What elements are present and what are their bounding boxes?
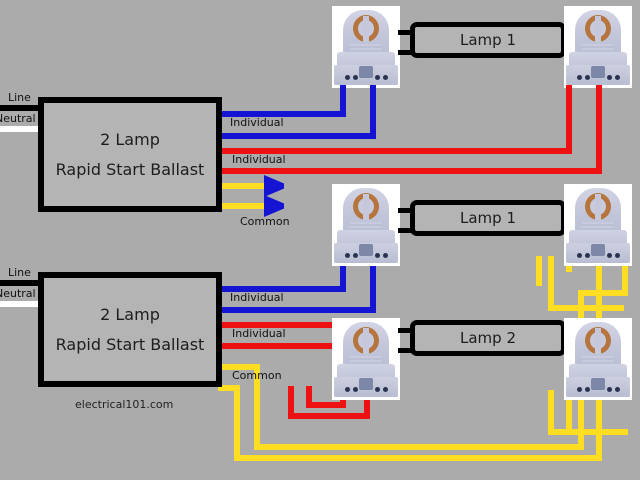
- ballast-2-blue-wire-b-riser: [370, 262, 376, 313]
- red-lead-top-right-a: [566, 85, 572, 103]
- ballast-2-red-wire-a-bottom: [306, 402, 346, 408]
- wire-nut-icon: [264, 175, 294, 217]
- watermark: electrical101.com: [75, 398, 173, 411]
- ballast-1-red-wire-b: [218, 168, 602, 174]
- ballast-2-blue-wire-a-riser: [340, 262, 346, 292]
- red-lead-top-right-b: [596, 85, 602, 103]
- ballast-2-blue-output-label: Individual: [230, 292, 284, 304]
- ballast-1-title-line2: Rapid Start Ballast: [56, 155, 205, 185]
- ballast-1-yellow-wire-b: [218, 203, 266, 209]
- ballast-2-blue-wire-b: [218, 307, 376, 313]
- lamp-top-pin-left-upper: [398, 30, 413, 35]
- neutral-label-ballast-1: Neutral: [0, 113, 36, 125]
- lamp-bottom-label: Lamp 2: [460, 329, 516, 347]
- holder-middle-left: [332, 184, 400, 266]
- lamp-bottom: Lamp 2: [410, 320, 566, 356]
- ballast-1-yellow-wire-a: [218, 183, 266, 189]
- ballast-2-red-wire-b-riser: [288, 386, 294, 419]
- ballast-2-title-line1: 2 Lamp: [100, 300, 160, 330]
- lamp-top-label: Lamp 1: [460, 31, 516, 49]
- blue-lead-top-left-b: [370, 85, 376, 103]
- neutral-label-ballast-2: Neutral: [0, 288, 36, 300]
- ballast-2-title-line2: Rapid Start Ballast: [56, 330, 205, 360]
- lamp-middle-label: Lamp 1: [460, 209, 516, 227]
- holder-bottom-right: [564, 318, 632, 400]
- ballast-2-common-label: Common: [232, 370, 282, 382]
- ballast-2-red-wire-a-riser: [306, 386, 312, 408]
- lamp-middle-pin-left-lower: [398, 228, 413, 233]
- ballast-2-yellow-wire-a-bottom: [254, 444, 584, 450]
- lamp-bottom-pin-left-upper: [398, 328, 413, 333]
- yellow-jumper-mid-top: [548, 305, 624, 311]
- lamp-top-pin-left-lower: [398, 50, 413, 55]
- holder-top-left: [332, 6, 400, 88]
- ballast-2-red-wire-b-bottom: [288, 413, 370, 419]
- holder-middle-right: [564, 184, 632, 266]
- yellow-middle-right-drop-a: [536, 256, 542, 286]
- wiring-diagram-canvas: Line Neutral Line Neutral Individual Ind…: [0, 0, 640, 480]
- blue-lead-top-left-a: [340, 85, 346, 103]
- ballast-2-yellow-wire-b-bottom: [234, 455, 602, 461]
- ballast-1: 2 Lamp Rapid Start Ballast: [38, 97, 222, 212]
- ballast-2-red-output-label: Individual: [232, 328, 286, 340]
- ballast-2: 2 Lamp Rapid Start Ballast: [38, 272, 222, 387]
- line-label-ballast-2: Line: [8, 267, 31, 279]
- line-label-ballast-1: Line: [8, 92, 31, 104]
- ballast-1-common-label: Common: [240, 216, 290, 228]
- holder-bottom-left: [332, 318, 400, 400]
- ballast-1-red-output-label: Individual: [232, 154, 286, 166]
- ballast-1-title-line1: 2 Lamp: [100, 125, 160, 155]
- lamp-top: Lamp 1: [410, 22, 566, 58]
- ballast-2-yellow-wire-b-drop: [234, 385, 240, 461]
- lamp-middle-pin-left-upper: [398, 208, 413, 213]
- yellow-bottom-right-run: [566, 429, 628, 435]
- holder-top-right: [564, 6, 632, 88]
- lamp-bottom-pin-left-lower: [398, 348, 413, 353]
- lamp-middle: Lamp 1: [410, 200, 566, 236]
- yellow-jumper-mid-left-riser: [548, 256, 554, 311]
- ballast-1-blue-output-label: Individual: [230, 117, 284, 129]
- ballast-1-blue-wire-b: [218, 133, 376, 139]
- ballast-2-yellow-wire-a-top: [578, 290, 628, 296]
